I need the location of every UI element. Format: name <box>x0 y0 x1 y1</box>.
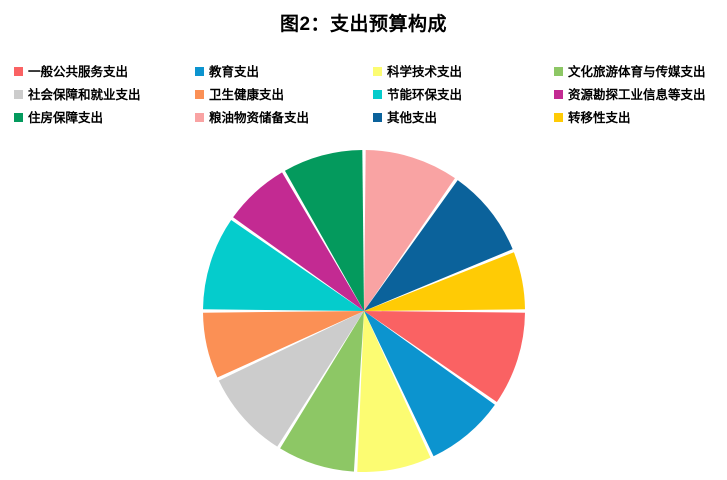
legend-color-swatch-icon <box>195 67 204 76</box>
legend-item-label: 教育支出 <box>209 65 259 79</box>
legend-item-label: 科学技术支出 <box>387 65 462 79</box>
legend-item-label: 节能环保支出 <box>387 88 462 102</box>
legend-item[interactable]: 其他支出 <box>373 106 554 129</box>
legend-color-swatch-icon <box>554 67 563 76</box>
legend-item-label: 文化旅游体育与传媒支出 <box>568 65 706 79</box>
legend-item-label: 一般公共服务支出 <box>28 65 128 79</box>
legend-color-swatch-icon <box>195 113 204 122</box>
legend-color-swatch-icon <box>195 90 204 99</box>
legend-item[interactable]: 卫生健康支出 <box>195 83 373 106</box>
legend-color-swatch-icon <box>14 113 23 122</box>
legend-item-label: 资源勘探工业信息等支出 <box>568 88 706 102</box>
legend-item[interactable]: 教育支出 <box>195 60 373 83</box>
legend-item[interactable]: 住房保障支出 <box>14 106 195 129</box>
legend-item[interactable]: 转移性支出 <box>554 106 714 129</box>
chart-legend: 一般公共服务支出教育支出科学技术支出文化旅游体育与传媒支出社会保障和就业支出卫生… <box>14 60 714 129</box>
legend-color-swatch-icon <box>373 113 382 122</box>
legend-color-swatch-icon <box>14 67 23 76</box>
legend-item[interactable]: 科学技术支出 <box>373 60 554 83</box>
legend-item[interactable]: 资源勘探工业信息等支出 <box>554 83 714 106</box>
legend-item-label: 社会保障和就业支出 <box>28 88 141 102</box>
legend-item-label: 住房保障支出 <box>28 111 103 125</box>
legend-item[interactable]: 一般公共服务支出 <box>14 60 195 83</box>
legend-color-swatch-icon <box>373 90 382 99</box>
chart-title: 图2：支出预算构成 <box>0 12 727 38</box>
legend-color-swatch-icon <box>14 90 23 99</box>
legend-item[interactable]: 社会保障和就业支出 <box>14 83 195 106</box>
legend-item[interactable]: 粮油物资储备支出 <box>195 106 373 129</box>
pie-svg <box>203 150 525 472</box>
legend-item-label: 粮油物资储备支出 <box>209 111 309 125</box>
legend-item[interactable]: 节能环保支出 <box>373 83 554 106</box>
legend-item-label: 卫生健康支出 <box>209 88 284 102</box>
pie-chart-plot-area <box>203 150 525 472</box>
legend-color-swatch-icon <box>554 113 563 122</box>
legend-color-swatch-icon <box>554 90 563 99</box>
legend-item[interactable]: 文化旅游体育与传媒支出 <box>554 60 714 83</box>
pie-chart-figure: 图2：支出预算构成 一般公共服务支出教育支出科学技术支出文化旅游体育与传媒支出社… <box>0 0 727 480</box>
legend-color-swatch-icon <box>373 67 382 76</box>
legend-item-label: 转移性支出 <box>568 111 631 125</box>
legend-item-label: 其他支出 <box>387 111 437 125</box>
